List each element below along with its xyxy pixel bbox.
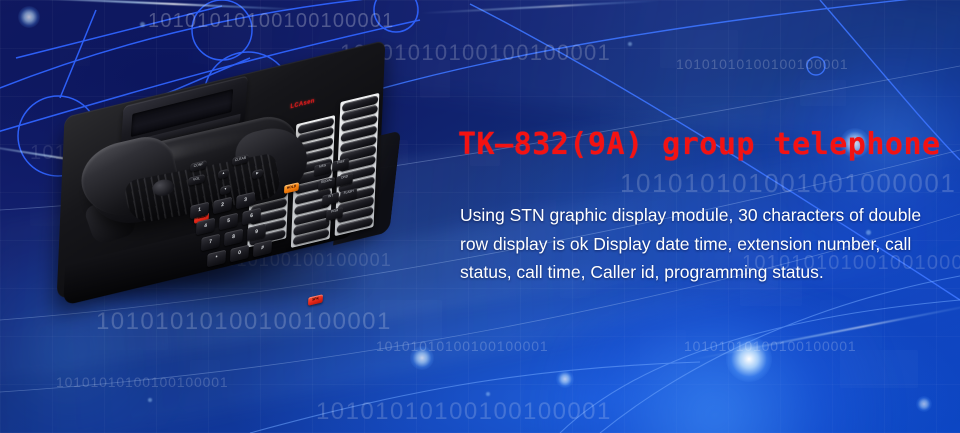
dial-key-label: 9 bbox=[247, 227, 266, 236]
side-key-label: FLASH bbox=[340, 189, 357, 196]
side-key-label: PGM bbox=[326, 208, 343, 215]
product-banner: 1010101010010010000110101010100100100001… bbox=[0, 0, 960, 433]
side-key-dnd[interactable]: DND bbox=[336, 172, 353, 186]
side-key-msg[interactable]: MSG bbox=[314, 162, 331, 176]
product-headline: TK—832(9A) group telephone bbox=[458, 128, 944, 161]
function-key-label: HOLD bbox=[284, 184, 299, 191]
side-function-keys[interactable]: MSGTRSFREDIALDNDINTFLASHPGM bbox=[314, 164, 360, 260]
dial-key-label: 7 bbox=[201, 237, 220, 246]
dial-key-8[interactable]: 8 bbox=[224, 228, 243, 246]
dial-key-label: 0 bbox=[230, 248, 249, 257]
dial-key-star[interactable]: * bbox=[206, 250, 225, 268]
side-key-label: REDIAL bbox=[318, 178, 335, 185]
dial-key-label: 8 bbox=[224, 232, 243, 241]
side-key-label: MSG bbox=[314, 163, 331, 170]
copy-block: TK—832(9A) group telephone Using STN gra… bbox=[458, 128, 944, 287]
side-key-redial[interactable]: REDIAL bbox=[318, 177, 335, 191]
dial-key-9[interactable]: 9 bbox=[247, 223, 266, 241]
product-description: Using STN graphic display module, 30 cha… bbox=[460, 201, 944, 287]
dial-key-label: 5 bbox=[219, 216, 238, 225]
side-key-pgm[interactable]: PGM bbox=[326, 207, 343, 221]
dial-key-4[interactable]: 4 bbox=[195, 218, 214, 236]
side-key-label: INT bbox=[322, 193, 339, 200]
dial-key-0[interactable]: 0 bbox=[229, 244, 248, 262]
dial-key-label: * bbox=[207, 253, 226, 262]
dial-key-label: 1 bbox=[190, 205, 209, 214]
phone-body: LCAsen CONFCLEARVOL▲▶▼ TALK bbox=[38, 44, 418, 314]
dial-key-3[interactable]: 3 bbox=[236, 191, 255, 209]
dial-key-hash[interactable]: # bbox=[252, 239, 271, 257]
dial-key-label: 6 bbox=[242, 211, 261, 220]
side-key-int[interactable]: INT bbox=[322, 192, 339, 206]
function-key-spk[interactable]: SPK bbox=[308, 294, 323, 305]
dial-key-label: # bbox=[253, 243, 272, 252]
dial-key-label: 4 bbox=[196, 221, 215, 230]
function-key-hold[interactable]: HOLD bbox=[284, 182, 299, 193]
side-key-label: DND bbox=[336, 174, 353, 181]
dial-key-label: 2 bbox=[213, 200, 232, 209]
dial-key-1[interactable]: 1 bbox=[190, 202, 209, 220]
side-key-flash[interactable]: FLASH bbox=[340, 187, 357, 201]
dial-key-6[interactable]: 6 bbox=[241, 207, 260, 225]
product-photo-telephone: LCAsen CONFCLEARVOL▲▶▼ TALK bbox=[38, 44, 418, 314]
dial-key-label: 3 bbox=[236, 195, 255, 204]
dial-key-5[interactable]: 5 bbox=[218, 212, 237, 230]
dial-key-7[interactable]: 7 bbox=[201, 234, 220, 252]
function-key-label: SPK bbox=[308, 296, 323, 303]
dial-key-2[interactable]: 2 bbox=[213, 196, 232, 214]
dial-keypad[interactable]: 123456789*0# bbox=[190, 194, 326, 276]
